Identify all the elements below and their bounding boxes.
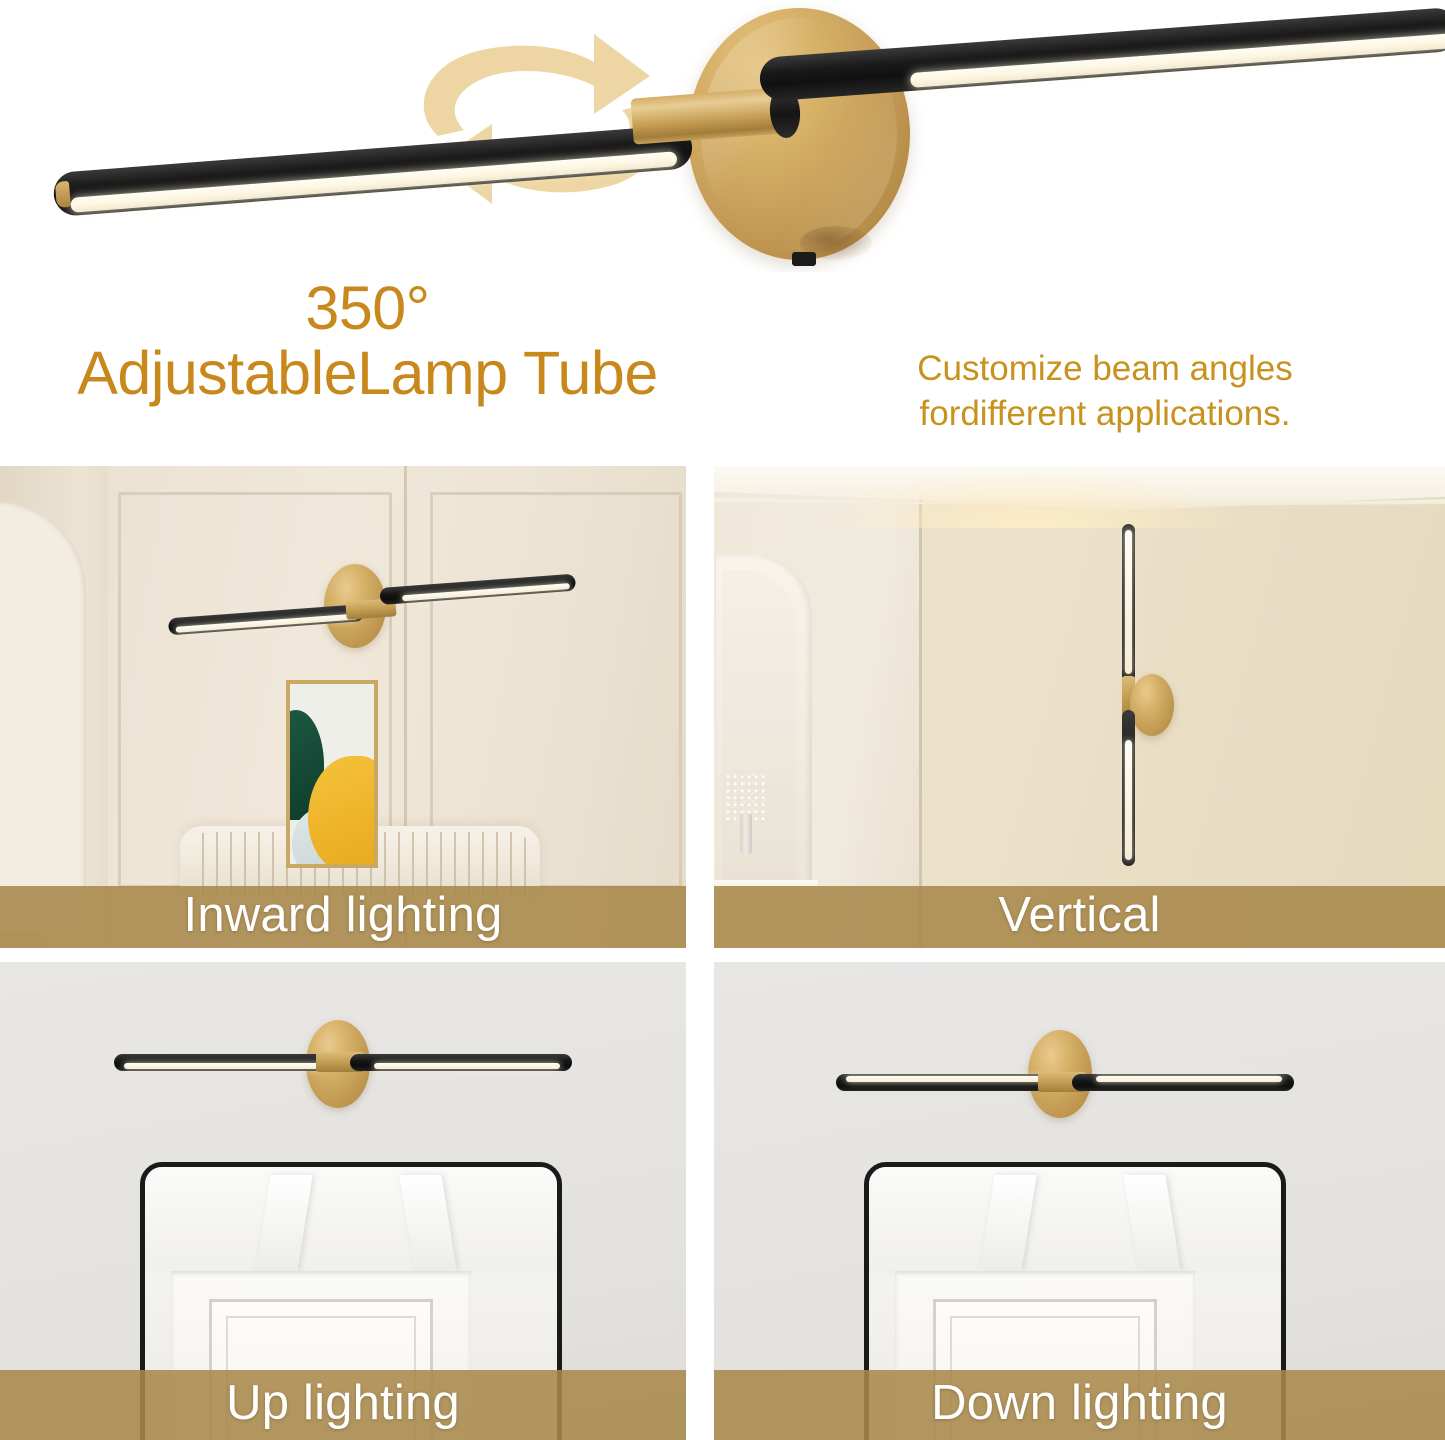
caption-text: Vertical — [998, 887, 1160, 943]
panel-caption-down: Down lighting — [714, 1370, 1445, 1440]
panel-caption-up: Up lighting — [0, 1370, 686, 1440]
fixture-led-right — [402, 583, 570, 601]
panel-down-lighting[interactable]: Down lighting — [714, 962, 1445, 1440]
lamp-fixture-down — [832, 1030, 1300, 1130]
lamp-fixture-vertical — [1094, 524, 1184, 864]
mount-screw — [792, 252, 816, 266]
cove-light-glow — [814, 468, 1244, 528]
mirror-ceiling-reflection — [145, 1167, 557, 1273]
panel-up-lighting[interactable]: Up lighting — [0, 962, 686, 1440]
fixture-arm-right — [350, 1054, 572, 1071]
lamp-fixture-up — [110, 1014, 578, 1114]
wall-corner — [919, 496, 922, 948]
page-headline: 350° AdjustableLamp Tube — [0, 276, 735, 405]
scene-beige-corner-hallway — [714, 466, 1445, 948]
fixture-led-left — [846, 1076, 1046, 1082]
glass-vase — [740, 814, 752, 856]
fixture-led-lower — [1125, 740, 1132, 860]
panel-vertical[interactable]: Vertical — [714, 466, 1445, 948]
lamp-arm-right — [758, 7, 1445, 102]
fixture-arm-upper — [1122, 524, 1135, 682]
panel-caption-inward: Inward lighting — [0, 886, 686, 948]
panel-inward-lighting[interactable]: Inward lighting — [0, 466, 686, 948]
scene-cream-living-room — [0, 466, 686, 948]
fixture-led-left — [124, 1063, 324, 1069]
hero-product-image — [0, 0, 1445, 272]
caption-text: Down lighting — [931, 1375, 1228, 1431]
fixture-arm-left — [836, 1074, 1058, 1091]
fixture-arm-lower — [1122, 710, 1135, 866]
fixture-arm-right — [1072, 1074, 1294, 1091]
lamp-fixture-inward — [160, 552, 580, 660]
fixture-led-right — [1096, 1076, 1282, 1082]
caption-text: Up lighting — [226, 1375, 460, 1431]
fixture-led-upper — [1125, 530, 1132, 674]
panel-caption-vertical: Vertical — [714, 886, 1445, 948]
fixture-mount-disc — [1130, 674, 1174, 736]
scene-gray-wall-mirror — [0, 962, 686, 1440]
scene-gray-wall-mirror — [714, 962, 1445, 1440]
feature-panel-grid: Inward lighting — [0, 466, 1445, 1440]
dried-plant — [724, 774, 768, 856]
led-strip-right — [910, 33, 1445, 88]
archway — [0, 502, 86, 932]
end-cap-left — [55, 181, 71, 208]
fixture-arm-left — [114, 1054, 336, 1071]
fixture-led-right — [374, 1063, 560, 1069]
mirror-ceiling-reflection — [869, 1167, 1281, 1273]
fixture-arm-right — [379, 574, 576, 605]
framed-artwork — [286, 680, 378, 868]
page-subheadline: Customize beam angles fordifferent appli… — [840, 347, 1370, 437]
caption-text: Inward lighting — [184, 887, 503, 943]
